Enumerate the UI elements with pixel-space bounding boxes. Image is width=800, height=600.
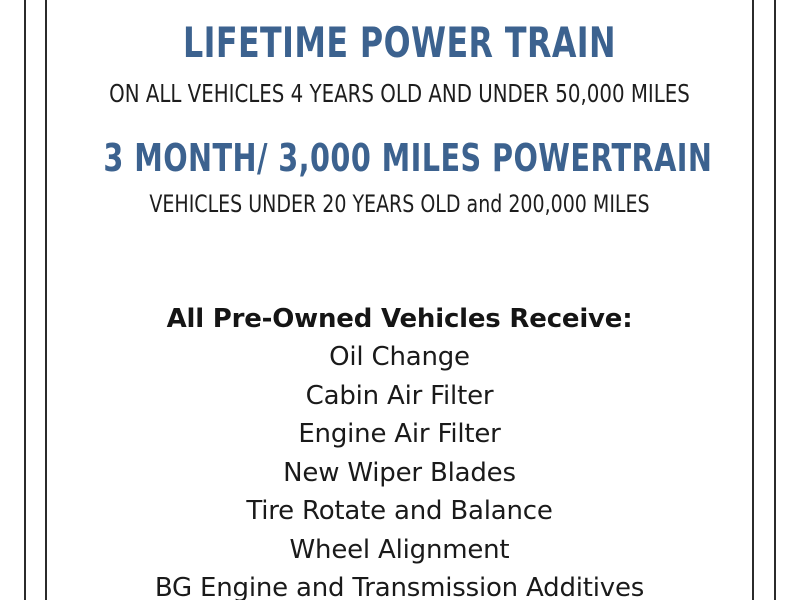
lifetime-powertrain-subhead: ON ALL VEHICLES 4 YEARS OLD AND UNDER 50… [89,81,709,106]
service-item: New Wiper Blades [47,454,752,493]
three-month-powertrain-headline: 3 MONTH/ 3,000 MILES POWERTRAIN [103,139,695,177]
border-rule-right-outer [774,0,776,600]
service-item: Engine Air Filter [47,415,752,454]
three-month-powertrain-subhead: VEHICLES UNDER 20 YEARS OLD and 200,000 … [89,192,709,216]
service-item: Cabin Air Filter [47,377,752,416]
border-rule-right-inner [752,0,754,600]
service-item: Tire Rotate and Balance [47,492,752,531]
flyer-content: LIFETIME POWER TRAIN ON ALL VEHICLES 4 Y… [47,0,752,600]
warranty-flyer: LIFETIME POWER TRAIN ON ALL VEHICLES 4 Y… [0,0,800,600]
services-list-title: All Pre-Owned Vehicles Receive: [47,300,752,338]
services-list: All Pre-Owned Vehicles Receive: Oil Chan… [47,300,752,600]
service-item: Wheel Alignment [47,531,752,570]
border-rule-left-outer [24,0,26,600]
lifetime-powertrain-headline: LIFETIME POWER TRAIN [103,22,695,64]
service-item: BG Engine and Transmission Additives [47,569,752,600]
service-item: Oil Change [47,338,752,377]
